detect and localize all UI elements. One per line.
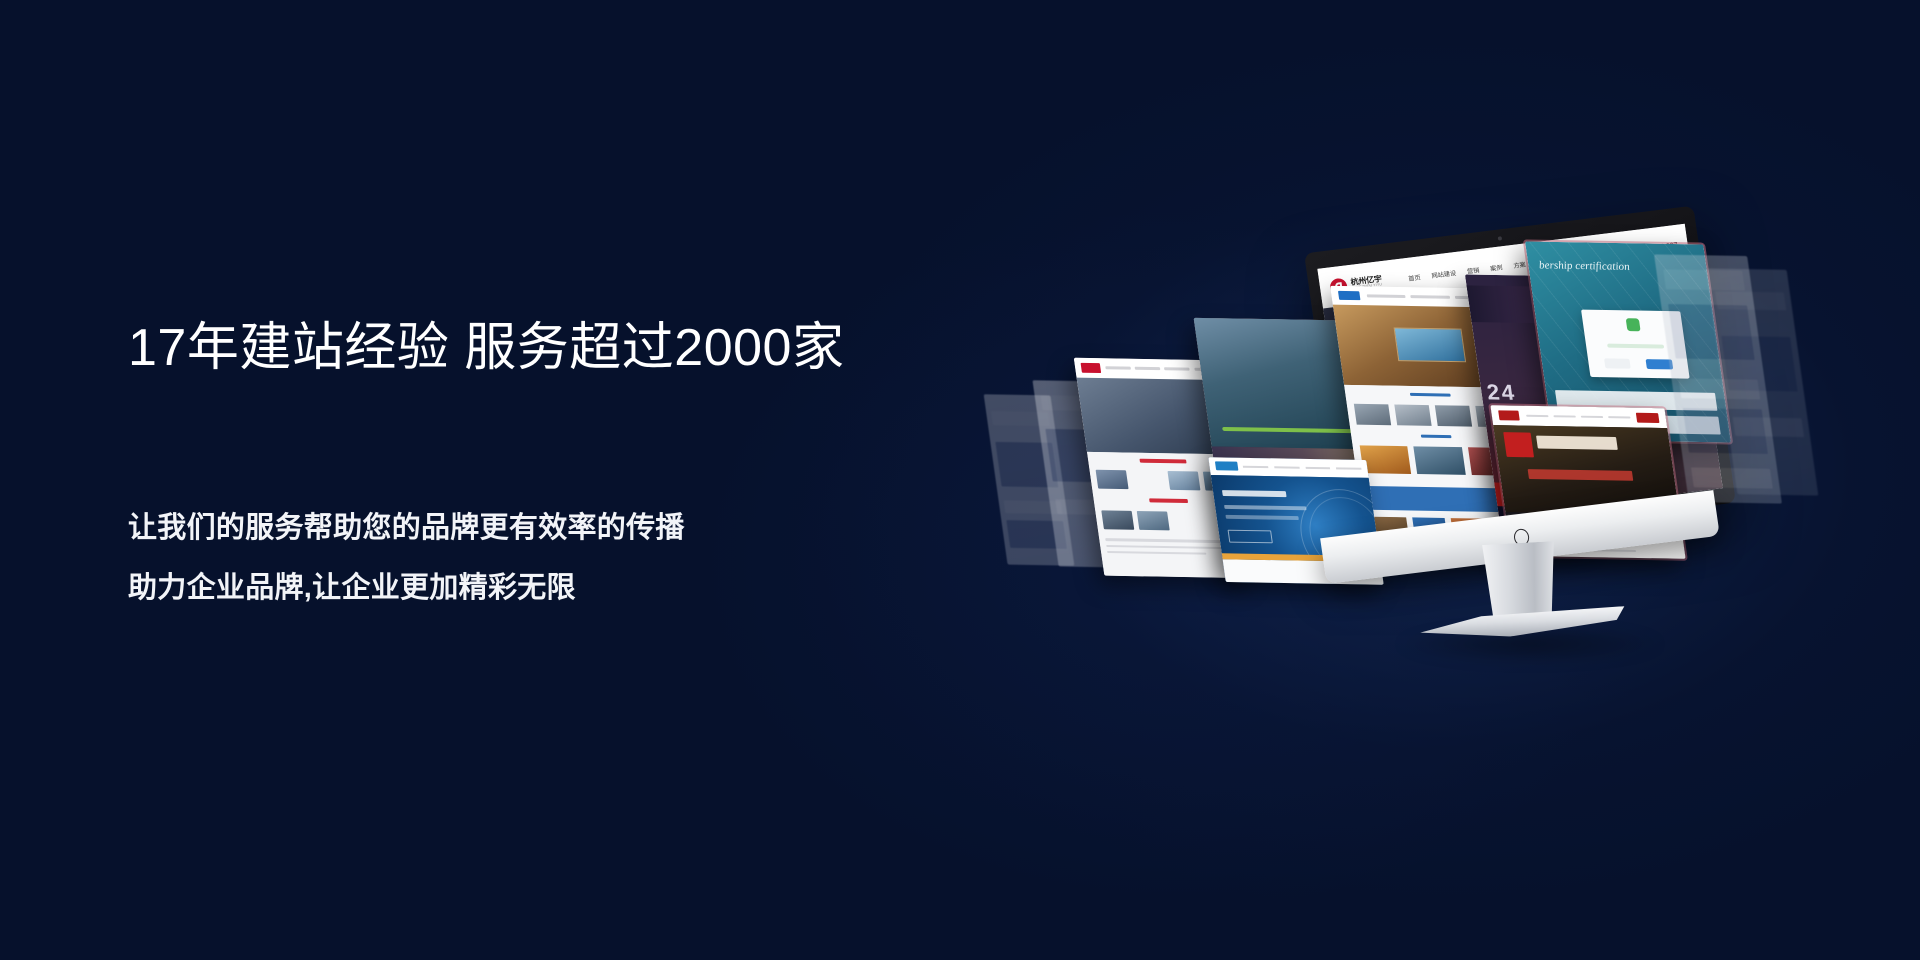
phone-icon [1621,246,1632,257]
front-site-hero-area [1323,263,1723,533]
hero-banner: 17年建站经验 服务超过2000家 让我们的服务帮助您的品牌更有效率的传播 助力… [0,0,1920,960]
front-site-logo: 杭州亿宇 HANGZHOU YIYU [1329,273,1383,296]
monitor-stand-neck [1479,541,1561,623]
nav-item-7: 联系 [1582,250,1596,260]
hero-copy: 17年建站经验 服务超过2000家 让我们的服务帮助您的品牌更有效率的传播 助力… [128,318,1028,379]
company-logo-icon [1329,277,1348,296]
subtitle-line-1: 让我们的服务帮助您的品牌更有效率的传播 [128,498,1028,558]
monitor-illustration: 杭州亿宇 HANGZHOU YIYU 首页 网站建设 营销 案例 方案 资讯 公… [1300,228,1720,648]
monitor-display-area: 杭州亿宇 HANGZHOU YIYU 首页 网站建设 营销 案例 方案 资讯 公… [1317,224,1722,533]
page-title: 17年建站经验 服务超过2000家 [128,318,1028,379]
hero-subtitle: 让我们的服务帮助您的品牌更有效率的传播 助力企业品牌,让企业更加精彩无限 [128,498,1028,618]
panel-stat-left: 10 [1229,462,1257,482]
nav-item-0: 首页 [1408,272,1422,282]
nav-item-1: 网站建设 [1431,268,1457,280]
panel-city-news [1074,358,1254,578]
nav-item-6: 公司 [1559,253,1573,263]
front-site-phone: 400-9627-667 [1621,240,1679,257]
nav-item-2: 营销 [1466,265,1480,275]
nav-item-3: 案例 [1489,262,1503,272]
phone-number: 400-9627-667 [1634,241,1678,253]
subtitle-line-2: 助力企业品牌,让企业更加精彩无限 [128,558,1028,618]
ghost-panel-left-2 [1032,380,1133,567]
nav-item-4: 方案 [1513,259,1527,269]
nav-item-5: 资讯 [1536,256,1550,266]
